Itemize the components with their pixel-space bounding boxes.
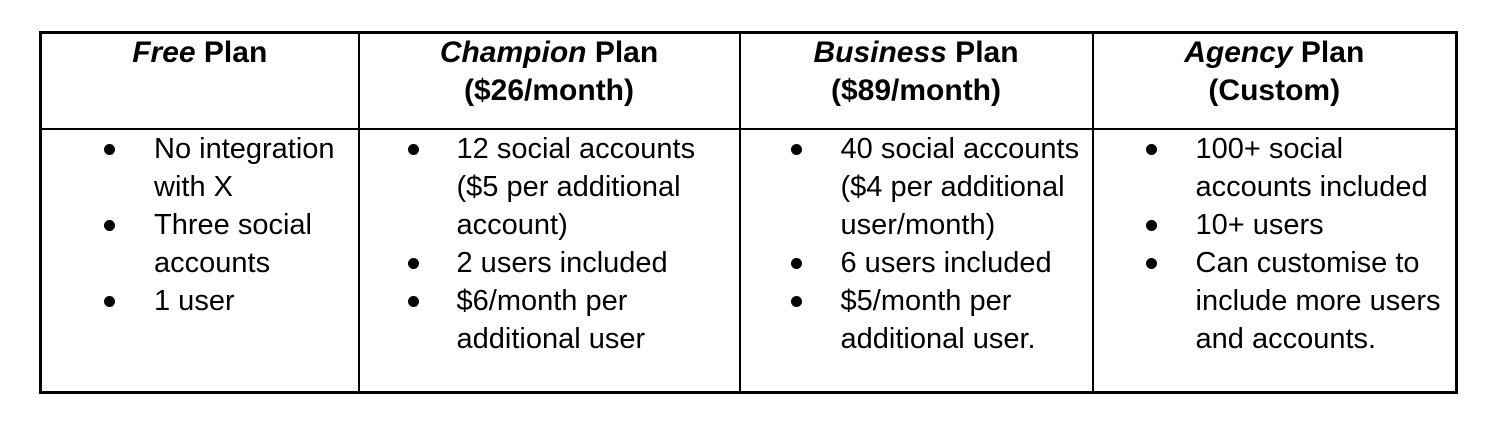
plan-word-agency: Plan [1293,36,1365,69]
bullet-icon [104,144,115,155]
plan-header-business: Business Plan ($89/month) [740,33,1093,129]
bullet-icon [104,220,115,231]
feature-item: No integration with X [42,130,358,206]
feature-item: 6 users included [741,244,1092,282]
plan-features-business: 40 social accounts ($4 per additional us… [740,129,1093,393]
plan-name-champion: Champion [440,36,587,69]
bullet-icon [1146,220,1157,231]
feature-text: No integration with X [154,133,335,203]
feature-list: 100+ social accounts included 10+ users … [1094,130,1456,358]
plan-features-champion: 12 social accounts ($5 per additional ac… [359,129,740,393]
feature-item: 12 social accounts ($5 per additional ac… [360,130,739,244]
feature-text: Can customise to include more users and … [1196,247,1441,355]
feature-text: 10+ users [1196,209,1324,241]
feature-text: 12 social accounts ($5 per additional ac… [457,133,696,241]
feature-text: $5/month per additional user. [841,285,1036,355]
plan-word-champion: Plan [586,36,658,69]
bullet-icon [408,258,419,269]
feature-text: 100+ social accounts included [1196,133,1428,203]
plan-price-business: ($89/month) [741,72,1092,110]
feature-item: 2 users included [360,244,739,282]
plan-title-business: Business Plan [741,34,1092,72]
plan-features-agency: 100+ social accounts included 10+ users … [1093,129,1457,393]
plan-title-free: Free Plan [42,34,358,72]
feature-item: 100+ social accounts included [1094,130,1456,206]
bullet-icon [791,296,802,307]
bullet-icon [791,258,802,269]
bullet-icon [408,144,419,155]
plan-word-free: Plan [196,36,268,69]
table-header: Free Plan Champion Plan ($26/month) Busi… [41,33,1457,129]
feature-list: 40 social accounts ($4 per additional us… [741,130,1092,358]
feature-text: Three social accounts [154,209,312,279]
feature-item: 1 user [42,282,358,320]
feature-item: $5/month per additional user. [741,282,1092,358]
table-body: No integration with X Three social accou… [41,129,1457,393]
feature-item: Can customise to include more users and … [1094,244,1456,358]
feature-list: No integration with X Three social accou… [42,130,358,320]
feature-item: $6/month per additional user [360,282,739,358]
feature-text: 40 social accounts ($4 per additional us… [841,133,1080,241]
bullet-icon [1146,258,1157,269]
feature-text: 6 users included [841,247,1052,279]
feature-item: Three social accounts [42,206,358,282]
bullet-icon [791,144,802,155]
feature-item: 10+ users [1094,206,1456,244]
bullet-icon [408,296,419,307]
bullet-icon [1146,144,1157,155]
plan-header-champion: Champion Plan ($26/month) [359,33,740,129]
plan-title-champion: Champion Plan [360,34,739,72]
plan-title-agency: Agency Plan [1094,34,1456,72]
header-row: Free Plan Champion Plan ($26/month) Busi… [41,33,1457,129]
bullet-icon [104,296,115,307]
plan-name-business: Business [813,36,946,69]
feature-item: 40 social accounts ($4 per additional us… [741,130,1092,244]
plan-price-agency: (Custom) [1094,72,1456,110]
plan-word-business: Plan [947,36,1019,69]
features-row: No integration with X Three social accou… [41,129,1457,393]
plan-name-free: Free [132,36,195,69]
plan-header-agency: Agency Plan (Custom) [1093,33,1457,129]
feature-text: $6/month per additional user [457,285,646,355]
page-canvas: Free Plan Champion Plan ($26/month) Busi… [0,0,1498,432]
feature-text: 2 users included [457,247,668,279]
feature-list: 12 social accounts ($5 per additional ac… [360,130,739,358]
feature-text: 1 user [154,285,235,317]
plan-features-free: No integration with X Three social accou… [41,129,359,393]
plan-name-agency: Agency [1184,36,1292,69]
plan-header-free: Free Plan [41,33,359,129]
pricing-plan-comparison-table: Free Plan Champion Plan ($26/month) Busi… [39,31,1458,394]
plan-price-champion: ($26/month) [360,72,739,110]
